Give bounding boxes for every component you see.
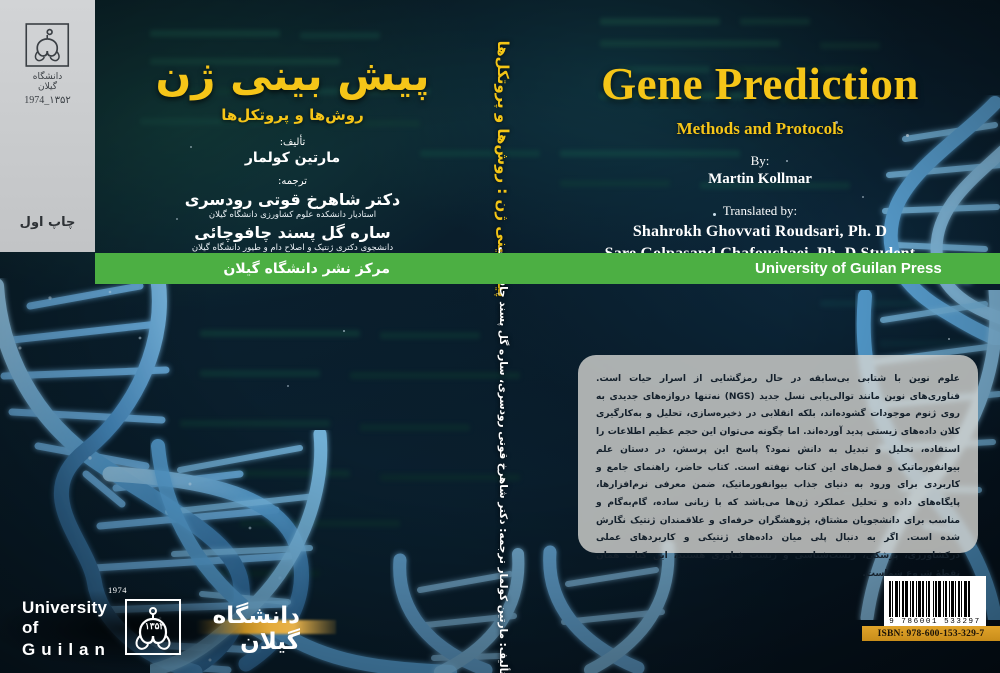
spine-logo-years: ۱۳۵۲_1974	[24, 95, 72, 106]
front-subtitle: Methods and Protocols	[530, 119, 990, 139]
barcode-bars	[889, 581, 981, 617]
back-translator-2-affiliation-fa: دانشجوی دکتری ژنتیک و اصلاح دام و طیور د…	[120, 243, 465, 253]
back-translator-2-fa: ساره گل پسند چافوچائی	[120, 223, 465, 242]
university-year-en: 1974	[108, 585, 127, 595]
back-cover-blurb-text: علوم نوین با شتابی بی‌سابقه در حال رمزگش…	[596, 371, 960, 584]
front-cover-title-block: Gene Prediction Methods and Protocols By…	[530, 58, 990, 263]
back-translator-label-fa: ترجمه:	[120, 176, 465, 187]
university-logo-lockup: 1974 University of Guilan ۱۳۵۲ دانشگاه گ…	[0, 588, 300, 670]
book-cover: دانشگاه گیلان ۱۳۵۲_1974 چاپ اول پیش بینی…	[0, 0, 1000, 673]
front-translator-1: Shahrokh Ghovvati Roudsari, Ph. D	[530, 223, 990, 241]
barcode-image: 9 786001 533297	[884, 576, 986, 628]
publisher-name-en: University of Guilan Press	[755, 260, 942, 277]
back-cover-title-block: پیش بینی ژن روش‌ها و پروتکل‌ها تألیف: ما…	[120, 52, 465, 253]
spine-logo-name: دانشگاه گیلان	[24, 72, 72, 92]
spine-strip: دانشگاه گیلان ۱۳۵۲_1974 چاپ اول	[0, 0, 95, 252]
barcode-digits: 9 786001 533297	[889, 618, 981, 626]
back-translator-1-fa: دکتر شاهرخ قوتی رودسری	[120, 190, 465, 209]
isbn-label: ISBN: 978-600-153-329-7	[878, 629, 985, 639]
university-year-fa: ۱۳۵۲	[145, 621, 164, 632]
guilan-emblem-icon	[25, 22, 71, 68]
spine-university-logo: دانشگاه گیلان ۱۳۵۲_1974	[24, 22, 72, 106]
university-name-en: 1974 University of Guilan	[22, 598, 111, 660]
spine-edition-label: چاپ اول	[0, 215, 95, 230]
university-name-fa: ۱۳۵۲ دانشگاه گیلان	[187, 603, 300, 655]
back-translator-1-affiliation-fa: استادیار دانشکده علوم کشاورزی دانشگاه گی…	[120, 210, 465, 220]
front-by-label: By:	[530, 153, 990, 169]
back-cover-blurb-box: علوم نوین با شتابی بی‌سابقه در حال رمزگش…	[578, 355, 978, 553]
publisher-name-fa: مرکز نشر دانشگاه گیلان	[223, 261, 390, 277]
university-name-line1: University of	[22, 598, 111, 638]
back-author-label-fa: تألیف:	[120, 137, 465, 148]
spine-text-column: پیش بینی ژن : روش‌ها و پروتکل‌ها تألیف: …	[486, 0, 520, 673]
university-name-line2: Guilan	[22, 640, 111, 660]
barcode-block: 9 786001 533297	[884, 576, 986, 628]
spine-authors: تألیف: مارتین کولمار ترجمه: دکتر شاهرخ ق…	[497, 247, 509, 673]
isbn-band: ISBN: 978-600-153-329-7	[862, 626, 1000, 641]
back-author-fa: مارتین کولمار	[120, 150, 465, 166]
front-translated-by-label: Translated by:	[530, 203, 990, 219]
publisher-band: مرکز نشر دانشگاه گیلان University of Gui…	[95, 253, 1000, 284]
back-subtitle-fa: روش‌ها و پروتکل‌ها	[120, 106, 465, 124]
front-title: Gene Prediction	[530, 58, 990, 110]
back-title-fa: پیش بینی ژن	[120, 52, 465, 100]
university-name-fa-text: دانشگاه گیلان	[213, 603, 300, 655]
front-author: Martin Kollmar	[530, 171, 990, 188]
